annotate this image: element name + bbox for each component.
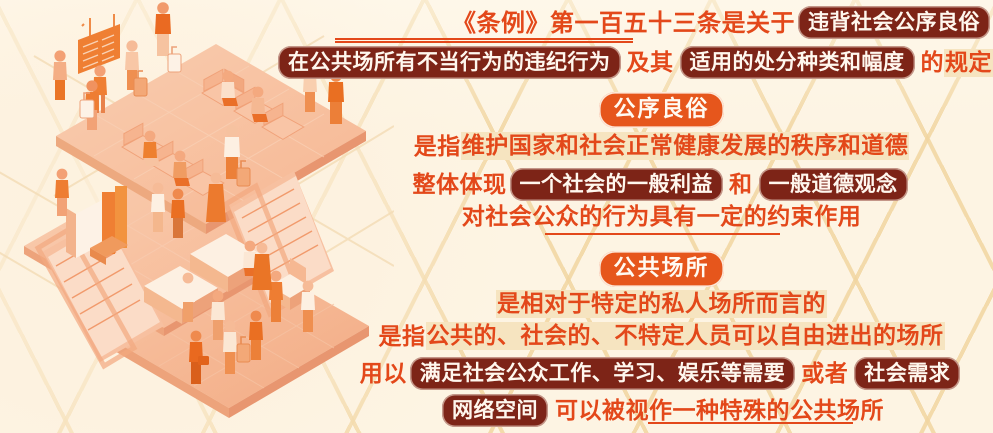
statement-line-2: 在公共场所有不当行为的违纪行为 及其 适用的处分种类和幅度 的 规定 <box>330 46 993 79</box>
pill-heading-gonggongchangsuo: 公共场所 <box>599 251 723 287</box>
line4-text-a: 整体体现 <box>413 173 507 196</box>
flight-info-board <box>78 14 120 74</box>
line2-text-b: 的 <box>921 51 945 74</box>
pill-cyberspace: 网络空间 <box>442 394 548 427</box>
pill-improper-behaviour-in-public: 在公共场所有不当行为的违纪行为 <box>278 46 621 79</box>
line9-underline <box>648 422 853 424</box>
statement-line-1: 《条例》第一百五十三条是关于 违背社会公序良俗 <box>330 6 993 39</box>
pill-general-moral-concept: 一般道德观念 <box>759 168 908 201</box>
line8-text-b: 或者 <box>801 362 848 385</box>
line2-highlight-provision: 规定 <box>944 49 993 77</box>
statement-line-7: 是指 公共的、社会的、不特定人员可以自由进出的场所 <box>330 322 993 350</box>
line1-text-a: 《条例》第一百五十三条是关于 <box>452 11 795 35</box>
line3-text-a: 是指 <box>414 135 461 158</box>
line9-text-a: 可以被视作一种特殊的公共场所 <box>555 399 884 422</box>
line2-text-a: 及其 <box>627 51 674 74</box>
pill-general-interest-of-society: 一个社会的一般利益 <box>510 168 724 201</box>
poster-root: 《条例》第一百五十三条是关于 违背社会公序良俗 在公共场所有不当行为的违纪行为 … <box>0 0 993 433</box>
statement-line-4: 整体体现 一个社会的一般利益 和 一般道德观念 <box>330 168 993 201</box>
pill-social-demand: 社会需求 <box>854 357 960 390</box>
line7-text-a: 是指 <box>379 325 426 348</box>
heading-public-place: 公共场所 <box>330 251 993 287</box>
line3-highlight-order-and-morality: 维护国家和社会正常健康发展的秩序和道德 <box>461 132 910 160</box>
pill-heading-gongxuliangsu: 公序良俗 <box>599 92 723 128</box>
statement-line-6: 是相对于特定的私人场所而言的 <box>330 290 993 318</box>
pill-work-study-entertainment-needs: 满足社会公众工作、学习、娱乐等需要 <box>410 357 796 390</box>
statement-line-8: 用以 满足社会公众工作、学习、娱乐等需要 或者 社会需求 <box>330 357 993 390</box>
line5-text: 对社会公众的行为具有一定的约束作用 <box>462 205 862 228</box>
statement-line-5: 对社会公众的行为具有一定的约束作用 <box>330 205 993 228</box>
pill-applicable-punishment-types: 适用的处分种类和幅度 <box>680 46 915 79</box>
heading-public-order-good-customs: 公序良俗 <box>330 92 993 128</box>
line8-text-a: 用以 <box>360 362 407 385</box>
line7-highlight-free-entry-place: 公共的、社会的、不特定人员可以自由进出的场所 <box>426 322 945 350</box>
line5-underline <box>545 233 780 235</box>
text-content-column: 《条例》第一百五十三条是关于 违背社会公序良俗 在公共场所有不当行为的违纪行为 … <box>330 0 993 433</box>
pill-violation-of-public-order: 违背社会公序良俗 <box>798 6 990 39</box>
line1-double-underline <box>335 38 633 43</box>
statement-line-3: 是指 维护国家和社会正常健康发展的秩序和道德 <box>330 132 993 160</box>
line4-text-b: 和 <box>729 173 753 196</box>
line6-highlight-relative-to-private-place: 是相对于特定的私人场所而言的 <box>496 290 827 318</box>
